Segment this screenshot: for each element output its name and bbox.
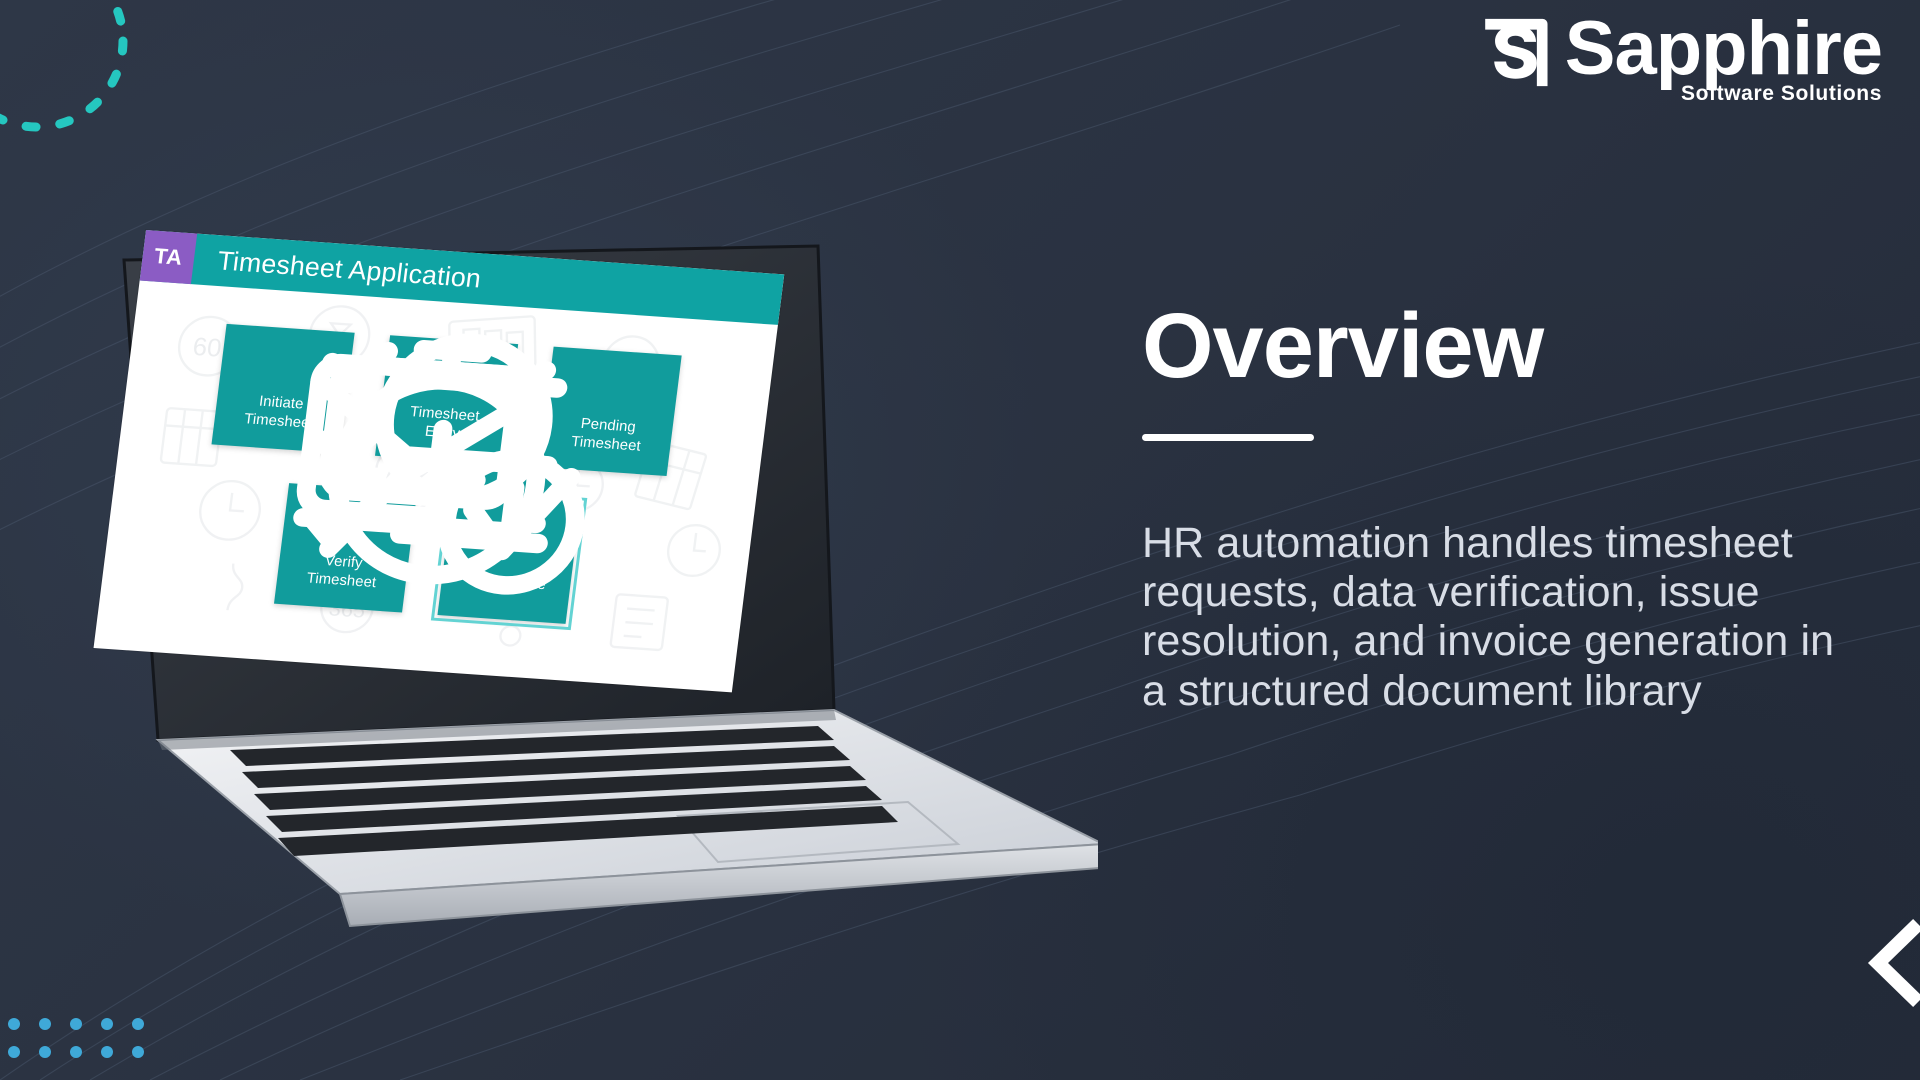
slide-content: Overview HR automation handles timesheet… (1142, 300, 1842, 716)
tile-grid: InitiateTimesheet (101, 281, 778, 636)
dot (39, 1046, 51, 1058)
timesheet-application: TA Timesheet Application 60 (94, 230, 785, 692)
dot (132, 1046, 144, 1058)
dot-grid-row (8, 1018, 144, 1030)
laptop-mockup: TA Timesheet Application 60 (118, 240, 1098, 940)
dot (132, 1018, 144, 1030)
app-badge: TA (140, 230, 198, 284)
chevron-left-icon[interactable] (1860, 918, 1920, 1008)
title-underline (1142, 434, 1314, 441)
dot (8, 1018, 20, 1030)
laptop-screen: TA Timesheet Application 60 (94, 230, 785, 692)
dot (70, 1046, 82, 1058)
dot (39, 1018, 51, 1030)
dot-grid-decoration (8, 1018, 144, 1074)
dot (101, 1018, 113, 1030)
brand-name: Sapphire (1565, 14, 1882, 84)
dot-grid-row (8, 1046, 144, 1058)
app-body: 60 24 (94, 281, 778, 693)
tile-consolidate[interactable]: Consolidate (437, 494, 580, 623)
page-title: Overview (1142, 300, 1842, 392)
dashed-arc-decoration (0, 0, 132, 136)
brand-tagline: Software Solutions (1681, 82, 1882, 106)
sapphire-s-mark-icon (1477, 14, 1559, 98)
checklist-icon (492, 525, 530, 560)
dot (101, 1046, 113, 1058)
sapphire-logo: Sapphire Software Solutions (1477, 14, 1882, 106)
dot (8, 1046, 20, 1058)
app-title: Timesheet Application (216, 245, 483, 293)
dot (70, 1018, 82, 1030)
slide-body-text: HR automation handles timesheet requests… (1142, 519, 1842, 716)
